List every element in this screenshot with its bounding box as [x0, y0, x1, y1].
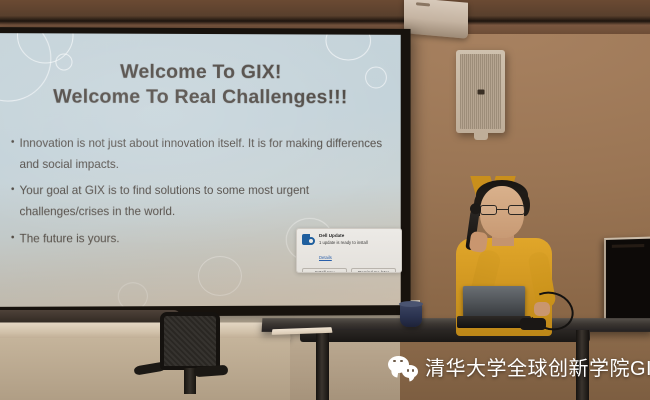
jbl-logo-icon: [477, 89, 484, 94]
remind-me-later-button[interactable]: Remind me later: [351, 268, 396, 273]
coffee-cup: [400, 303, 422, 327]
projector-screen-frame: Welcome To GIX! Welcome To Real Challeng…: [0, 27, 411, 317]
notification-header: Dell Update 1 update is ready to install…: [302, 233, 396, 264]
desk-leg: [316, 330, 329, 400]
slide-bullet: • Innovation is not just about innovatio…: [11, 134, 387, 175]
slide-bullet-text: Innovation is not just about innovation …: [20, 134, 387, 175]
slide-title-line-2: Welcome To Real Challenges!!!: [0, 84, 401, 110]
notification-message: 1 update is ready to install: [319, 240, 368, 246]
chair-backrest: [160, 312, 220, 370]
bubble-decor-icon: [198, 256, 242, 296]
wechat-icon: [388, 356, 418, 378]
notification-actions: Install now Remind me later: [302, 268, 396, 273]
speaker-mount-foot: [474, 132, 488, 140]
speaker-grille: [460, 54, 501, 129]
bubble-decor-icon: [325, 33, 371, 60]
notification-app-name: Dell Update: [319, 233, 368, 239]
bubble-decor-icon: [118, 282, 148, 307]
slide-title: Welcome To GIX! Welcome To Real Challeng…: [0, 59, 401, 110]
headset: [520, 318, 546, 330]
laptop-screen: [463, 286, 525, 319]
slide-bullet: • Your goal at GIX is to find solutions …: [11, 181, 387, 223]
chair-armrest-right: [194, 365, 229, 377]
eyeglasses-icon: [480, 205, 525, 215]
office-chair: [150, 312, 228, 400]
wall-speaker: [456, 50, 505, 133]
presenter-left-hand: [469, 231, 489, 253]
slide-title-line-1: Welcome To GIX!: [0, 59, 401, 85]
screenshot-scene: Welcome To GIX! Welcome To Real Challeng…: [0, 0, 650, 400]
bullet-marker-icon: •: [11, 181, 15, 222]
notification-details-link[interactable]: Details: [319, 255, 332, 260]
ceiling-projector-mount: [404, 0, 468, 39]
slide-bullet-text: Your goal at GIX is to find solutions to…: [20, 181, 387, 223]
wall-monitor: [604, 237, 650, 326]
bullet-marker-icon: •: [11, 134, 15, 175]
dell-update-icon: [302, 233, 315, 246]
dell-update-notification[interactable]: Dell Update 1 update is ready to install…: [296, 228, 402, 273]
install-now-button[interactable]: Install now: [302, 268, 347, 273]
watermark-text: 清华大学全球创新学院GIX: [425, 352, 650, 381]
watermark: 清华大学全球创新学院GIX: [388, 352, 650, 381]
bullet-marker-icon: •: [11, 229, 15, 250]
